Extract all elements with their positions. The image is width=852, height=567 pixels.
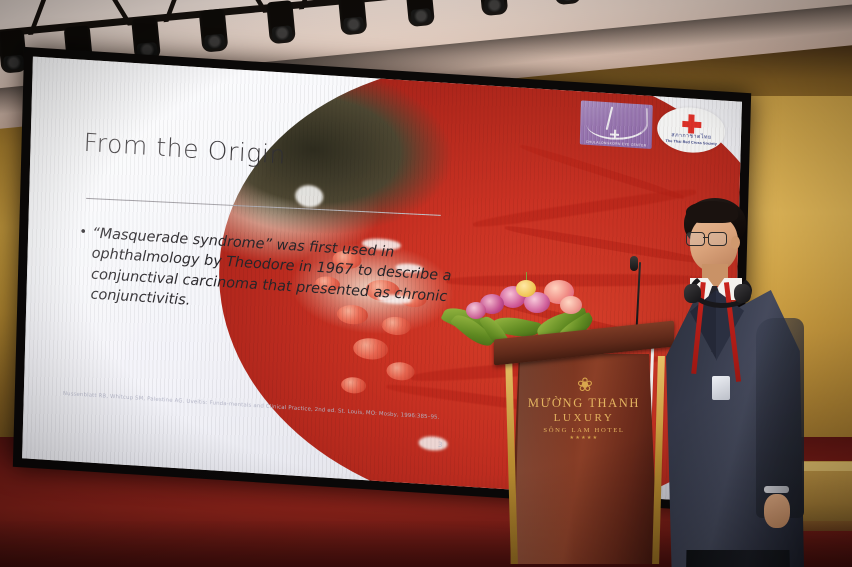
stage-light-icon bbox=[199, 8, 229, 52]
headphones-icon bbox=[684, 272, 748, 302]
hotel-star-rating: ★★★★★ bbox=[514, 435, 654, 441]
wings-logo-icon: ❀ bbox=[514, 376, 654, 395]
stage-light-icon bbox=[405, 0, 435, 27]
wristwatch bbox=[764, 486, 789, 493]
hotel-branding: ❀ MƯỜNG THANH LUXURY SÔNG LAM HOTEL ★★★★… bbox=[514, 376, 654, 441]
stage-light-icon bbox=[266, 0, 296, 44]
eye-center-logo: CHULALONGKORN EYE CENTER bbox=[580, 101, 653, 150]
hotel-name-line1: MƯỜNG THANH bbox=[514, 396, 654, 411]
speaker-podium: ❀ MƯỜNG THANH LUXURY SÔNG LAM HOTEL ★★★★… bbox=[500, 330, 668, 567]
ear bbox=[731, 236, 740, 249]
speaker-person bbox=[660, 198, 810, 567]
slide-number: 3 bbox=[438, 441, 443, 449]
stage-light-icon bbox=[552, 0, 582, 5]
stage-light-icon bbox=[338, 0, 368, 36]
conference-presentation-photo: CHULALONGKORN EYE CENTER สภากาชาดไทย The… bbox=[0, 0, 852, 567]
medical-cross-icon bbox=[610, 130, 619, 140]
hand bbox=[764, 494, 790, 528]
bullet-marker: • bbox=[79, 223, 87, 242]
trousers bbox=[682, 550, 794, 567]
name-badge bbox=[712, 376, 730, 400]
microphone-head bbox=[630, 256, 638, 271]
hair-fringe bbox=[686, 201, 738, 223]
thai-red-cross-logo: สภากาชาดไทย The Thai Red Cross Society bbox=[657, 105, 726, 154]
hotel-name-line3: SÔNG LAM HOTEL bbox=[514, 427, 654, 434]
slide-logo-group: CHULALONGKORN EYE CENTER สภากาชาดไทย The… bbox=[580, 100, 726, 154]
red-cross-icon bbox=[682, 114, 701, 134]
hotel-name-line2: LUXURY bbox=[514, 412, 654, 424]
eyeglasses-icon bbox=[686, 232, 732, 245]
